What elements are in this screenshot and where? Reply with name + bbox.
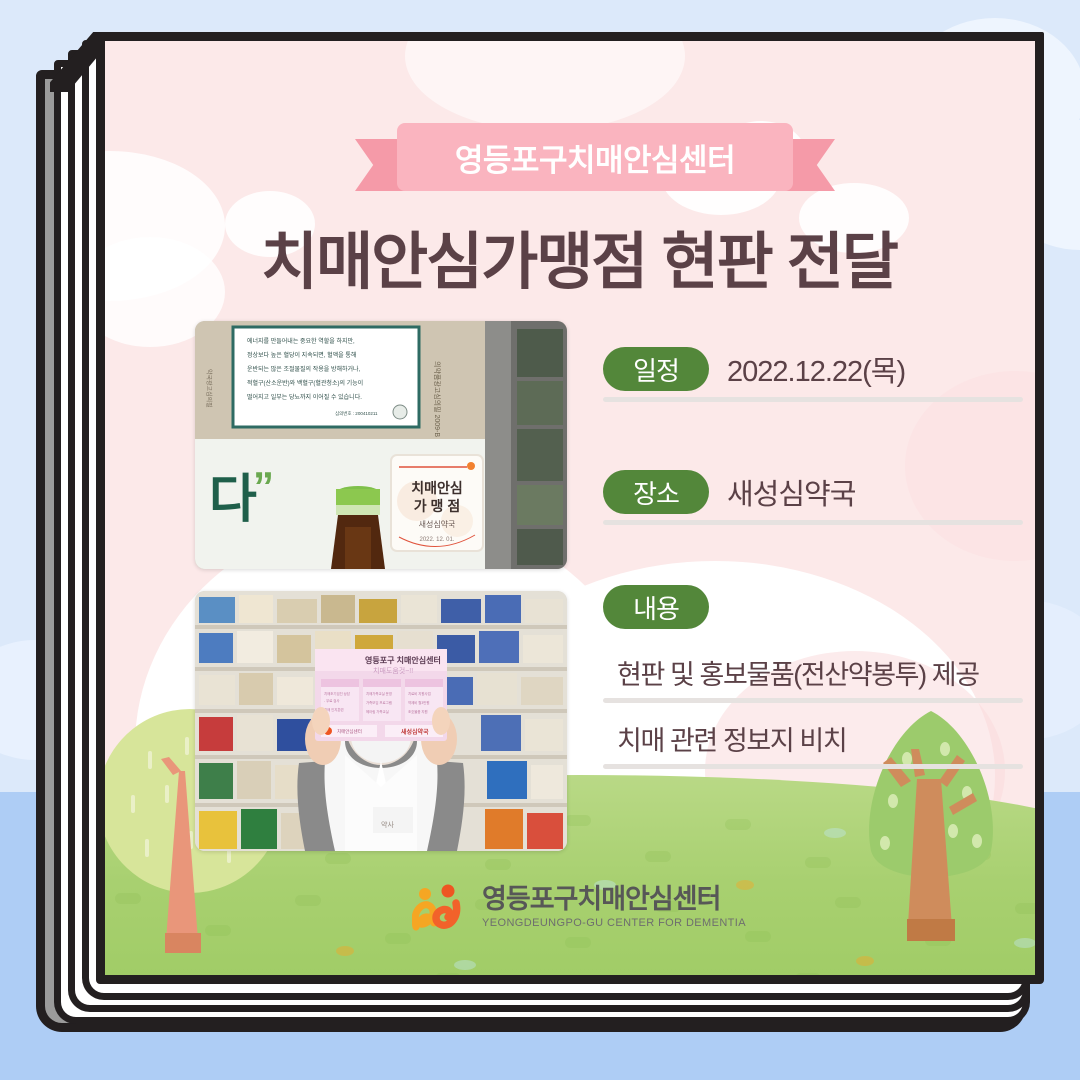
svg-text:2022. 12. 01.: 2022. 12. 01. xyxy=(419,537,454,543)
ribbon-banner: 영등포구치매안심센터 xyxy=(355,123,835,199)
footer-logo: 영등포구치매안심센터 YEONGDEUNGPO-GU CENTER FOR DE… xyxy=(105,883,1035,931)
info-panel: 일정 2022.12.22(목) 장소 새성심약국 xyxy=(603,341,1023,785)
info-divider xyxy=(603,698,1023,703)
svg-text:운반되는 많은 조절물질의 작용을 방해하거나,: 운반되는 많은 조절물질의 작용을 방해하거나, xyxy=(247,365,361,373)
info-value-location: 새성심약국 xyxy=(727,471,855,513)
info-row-content: 내용 현판 및 홍보물품(전산약봉투) 제공 치매 관련 정보지 비치 xyxy=(603,585,1023,769)
svg-text:다: 다 xyxy=(209,471,257,529)
info-row-location: 장소 새성심약국 xyxy=(603,464,1023,525)
svg-text:약제비 월3만원: 약제비 월3만원 xyxy=(408,700,430,705)
svg-text:약국광고심의필: 약국광고심의필 xyxy=(205,369,213,408)
ribbon-body: 영등포구치매안심센터 xyxy=(397,123,793,191)
svg-text:심의번호 : 200410211: 심의번호 : 200410211 xyxy=(335,410,378,417)
svg-text:에너지를 만들어내는 중요한 역할을 하지만,: 에너지를 만들어내는 중요한 역할을 하지만, xyxy=(247,337,355,345)
svg-text:치매안심센터: 치매안심센터 xyxy=(337,728,362,735)
pharmacy-window-plaque-photo: 에너지를 만들어내는 중요한 역할을 하지만, 정상보다 높은 혈당이 지속되면… xyxy=(195,321,567,569)
svg-text:적혈구(산소운반)와 백혈구(혈관청소)의 기능이: 적혈구(산소운반)와 백혈구(혈관청소)의 기능이 xyxy=(247,379,363,387)
info-divider xyxy=(603,764,1023,769)
info-content-line-2: 치매 관련 정보지 비치 xyxy=(603,719,1023,758)
info-divider xyxy=(603,520,1023,525)
svg-text:가족모임 프로그램: 가족모임 프로그램 xyxy=(366,700,392,705)
svg-text:치매조기검진 상담: 치매조기검진 상담 xyxy=(324,691,350,696)
info-content-line-1: 현판 및 홍보물품(전산약봉투) 제공 xyxy=(603,653,1023,692)
info-row-schedule: 일정 2022.12.22(목) xyxy=(603,341,1023,402)
svg-text:영등포구 치매안심센터: 영등포구 치매안심센터 xyxy=(365,655,441,665)
book-frame: 영등포구치매안심센터 치매안심가맹점 현판 전달 xyxy=(36,32,1044,1048)
footer-logo-english: YEONGDEUNGPO-GU CENTER FOR DEMENTIA xyxy=(482,918,746,929)
svg-text:”: ” xyxy=(253,463,274,510)
ribbon-label: 영등포구치매안심센터 xyxy=(455,135,735,180)
info-label-location: 장소 xyxy=(603,470,709,514)
dementia-center-logo-icon xyxy=(412,883,470,931)
page-title: 치매안심가맹점 현판 전달 xyxy=(105,211,1035,301)
svg-text:새성심약국: 새성심약국 xyxy=(419,519,456,529)
svg-text:약사: 약사 xyxy=(381,820,394,829)
svg-text:가 맹 점: 가 맹 점 xyxy=(414,498,460,514)
svg-text:치매안심: 치매안심 xyxy=(411,480,463,496)
info-divider xyxy=(603,397,1023,402)
svg-text:정상보다 높은 혈당이 지속되면, 혈액을 통해: 정상보다 높은 혈당이 지속되면, 혈액을 통해 xyxy=(247,351,356,359)
pharmacist-holding-flyer-photo: 영등포구 치매안심센터 치매도움것~!! 치매조기검진 상담 - 무료 검사 치… xyxy=(195,591,567,851)
card-page: 영등포구치매안심센터 치매안심가맹점 현판 전달 xyxy=(96,32,1044,984)
info-value-schedule: 2022.12.22(목) xyxy=(727,348,905,390)
svg-text:치료비 지원사업: 치료비 지원사업 xyxy=(408,691,431,696)
info-label-schedule: 일정 xyxy=(603,347,709,391)
svg-text:떨어지고 일부는 당뇨까지 이어질 수 있습니다.: 떨어지고 일부는 당뇨까지 이어질 수 있습니다. xyxy=(247,393,362,401)
poster-canvas: 영등포구치매안심센터 치매안심가맹점 현판 전달 xyxy=(0,0,1080,1080)
svg-text:새성심약국: 새성심약국 xyxy=(401,728,429,736)
svg-text:치매도움것~!!: 치매도움것~!! xyxy=(373,666,413,675)
svg-text:조호물품 지원: 조호물품 지원 xyxy=(408,709,428,714)
footer-logo-korean: 영등포구치매안심센터 xyxy=(482,886,746,913)
svg-text:의약품광고심의필 2009-B: 의약품광고심의필 2009-B xyxy=(433,361,442,437)
card-cloud-icon xyxy=(405,41,685,131)
svg-text:치매가족교실 운영: 치매가족교실 운영 xyxy=(366,691,392,696)
svg-text:- 무료 검사: - 무료 검사 xyxy=(324,698,340,703)
info-label-content: 내용 xyxy=(603,585,709,629)
svg-text:헤아림 가족교실: 헤아림 가족교실 xyxy=(366,709,389,714)
